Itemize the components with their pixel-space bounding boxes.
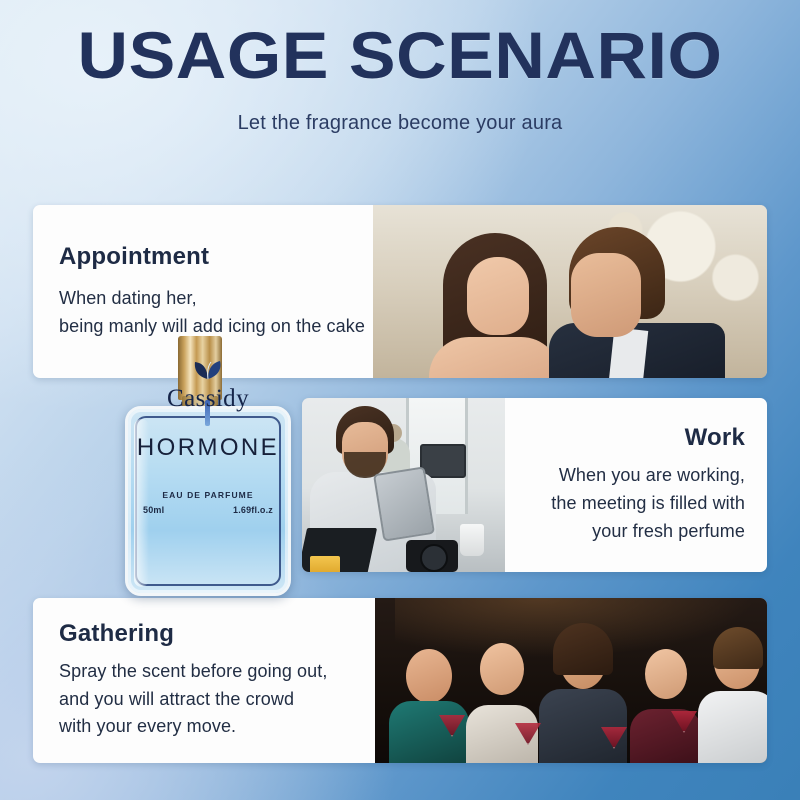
- brand-name: Cassidy: [125, 386, 291, 411]
- card-line: with your every move.: [59, 713, 375, 741]
- bottle-label: Cassidy HORMONE EAU DE PARFUME 50ml 1.69…: [125, 336, 291, 596]
- photo-scene: [302, 398, 505, 572]
- man-with-tablet-at-desk-photo: [302, 398, 505, 572]
- tablet-shape: [373, 466, 435, 541]
- perfume-bottle: Cassidy HORMONE EAU DE PARFUME 50ml 1.69…: [125, 336, 291, 596]
- woman-face-shape: [467, 257, 529, 335]
- card-title: Gathering: [59, 620, 375, 648]
- header: USAGE SCENARIO Let the fragrance become …: [0, 0, 800, 135]
- card-title: Appointment: [59, 243, 373, 271]
- photo-scene: [373, 205, 767, 378]
- page-subtitle: Let the fragrance become your aura: [0, 112, 800, 135]
- card-line: When you are working,: [559, 462, 745, 490]
- card-line: Spray the scent before going out,: [59, 658, 375, 686]
- card-line: When dating her,: [59, 285, 373, 313]
- card-line: and you will attract the crowd: [59, 686, 375, 714]
- person-shape: [695, 627, 767, 763]
- group-of-friends-with-drinks-photo: [375, 598, 767, 763]
- volume-ml: 50ml: [143, 505, 164, 515]
- scenario-card-gathering: Gathering Spray the scent before going o…: [33, 598, 767, 763]
- card-text-block: Gathering Spray the scent before going o…: [33, 598, 375, 763]
- card-text-block: Work When you are working, the meeting i…: [505, 398, 767, 572]
- leaf-icon: [193, 360, 223, 380]
- product-type: EAU DE PARFUME: [125, 490, 291, 500]
- cup-shape: [460, 524, 484, 556]
- man-face-shape: [571, 253, 641, 337]
- woman-body-shape: [429, 337, 561, 378]
- scenario-card-work: Work When you are working, the meeting i…: [302, 398, 767, 572]
- photo-scene: [375, 598, 767, 763]
- card-title: Work: [685, 424, 745, 452]
- person-shape: [459, 631, 545, 763]
- page-title: USAGE SCENARIO: [0, 22, 800, 88]
- monitor-shape: [420, 444, 466, 478]
- product-name: HORMONE: [125, 434, 291, 462]
- sticky-note-shape: [310, 556, 340, 572]
- card-line: the meeting is filled with: [551, 490, 745, 518]
- couple-embracing-photo: [373, 205, 767, 378]
- volume-row: 50ml 1.69fl.o.z: [125, 505, 291, 515]
- volume-oz: 1.69fl.o.z: [233, 505, 273, 515]
- card-line: your fresh perfume: [592, 518, 745, 546]
- camera-shape: [406, 540, 458, 572]
